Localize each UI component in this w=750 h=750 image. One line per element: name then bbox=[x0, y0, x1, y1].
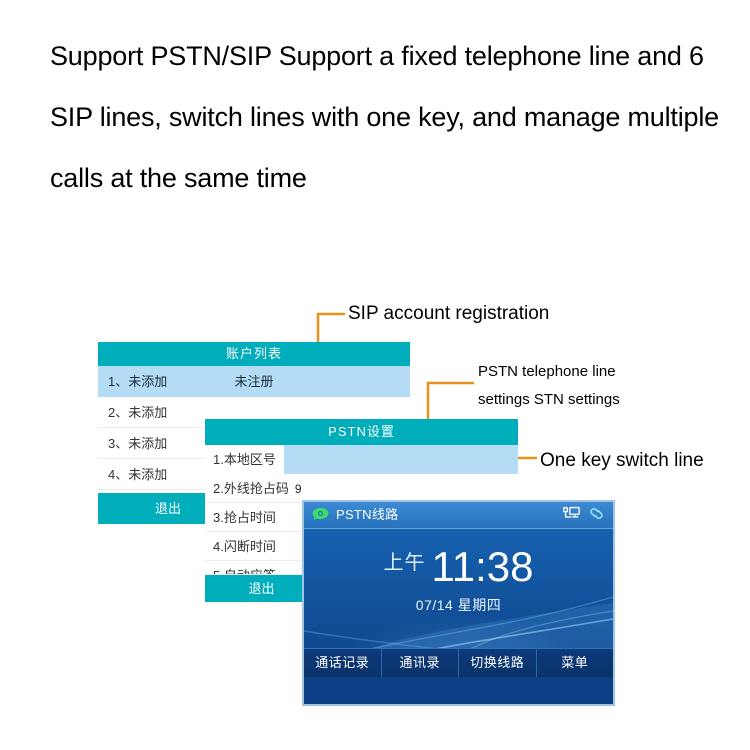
callout-pstn-telephone-line-settings: PSTN telephone line settings STN setting… bbox=[478, 358, 620, 414]
account-row-4-label: 4、 bbox=[108, 467, 128, 482]
pstn-row-local-area-code[interactable]: 1.本地区号 bbox=[205, 445, 518, 474]
pstn-row-3-label: 3.抢占时间 bbox=[213, 510, 276, 525]
phone-softkey-bar: 通话记录 通讯录 切换线路 菜单 bbox=[304, 648, 613, 677]
softkey-call-history[interactable]: 通话记录 bbox=[304, 649, 382, 677]
softkey-switch-line[interactable]: 切换线路 bbox=[459, 649, 537, 677]
account-row-3-name: 未添加 bbox=[128, 436, 167, 451]
softkey-menu[interactable]: 菜单 bbox=[537, 649, 614, 677]
pstn-row-2-label: 2.外线抢占码 bbox=[213, 481, 289, 496]
link-icon bbox=[588, 506, 605, 521]
pstn-settings-title: PSTN设置 bbox=[205, 419, 518, 445]
slide-canvas: Support PSTN/SIP Support a fixed telepho… bbox=[0, 0, 750, 750]
account-row-2-name: 未添加 bbox=[128, 405, 167, 420]
pstn-row-outside-line-code[interactable]: 2.外线抢占码9 bbox=[205, 474, 518, 503]
account-row-3-label: 3、 bbox=[108, 436, 128, 451]
account-row-2-label: 2、 bbox=[108, 405, 128, 420]
phone-clock: 上午11:38 bbox=[304, 543, 613, 591]
callout-one-key-switch-line: One key switch line bbox=[540, 450, 704, 472]
phone-status-icons bbox=[563, 506, 605, 521]
pstn-row-2-value: 9 bbox=[295, 482, 302, 496]
account-row-4-name: 未添加 bbox=[128, 467, 167, 482]
network-monitor-icon bbox=[563, 506, 580, 521]
pstn-row-4-label: 4.闪断时间 bbox=[213, 539, 276, 554]
phone-status-bar: PSTN线路 bbox=[304, 502, 613, 529]
clock-ampm: 上午 bbox=[384, 552, 426, 574]
pstn-row-5-label: 5.自动应答 bbox=[213, 568, 276, 575]
telephone-icon bbox=[311, 506, 330, 524]
phone-line-name: PSTN线路 bbox=[336, 502, 398, 528]
page-title: Support PSTN/SIP Support a fixed telepho… bbox=[50, 26, 730, 209]
phone-home-body: 上午11:38 07/14 星期四 通话记录 通讯录 切换线路 菜单 bbox=[304, 529, 613, 677]
softkey-contacts[interactable]: 通讯录 bbox=[382, 649, 460, 677]
account-list-title: 账户列表 bbox=[98, 342, 410, 366]
clock-time: 11:38 bbox=[432, 543, 534, 590]
account-row-1[interactable]: 1、未添加 未注册 bbox=[98, 366, 410, 397]
pstn-row-1-label: 1.本地区号 bbox=[205, 445, 284, 474]
clock-date: 07/14 星期四 bbox=[304, 595, 613, 615]
account-row-1-status: 未注册 bbox=[98, 366, 410, 397]
phone-screen: PSTN线路 bbox=[302, 500, 615, 706]
callout-sip-account-registration: SIP account registration bbox=[348, 303, 549, 325]
